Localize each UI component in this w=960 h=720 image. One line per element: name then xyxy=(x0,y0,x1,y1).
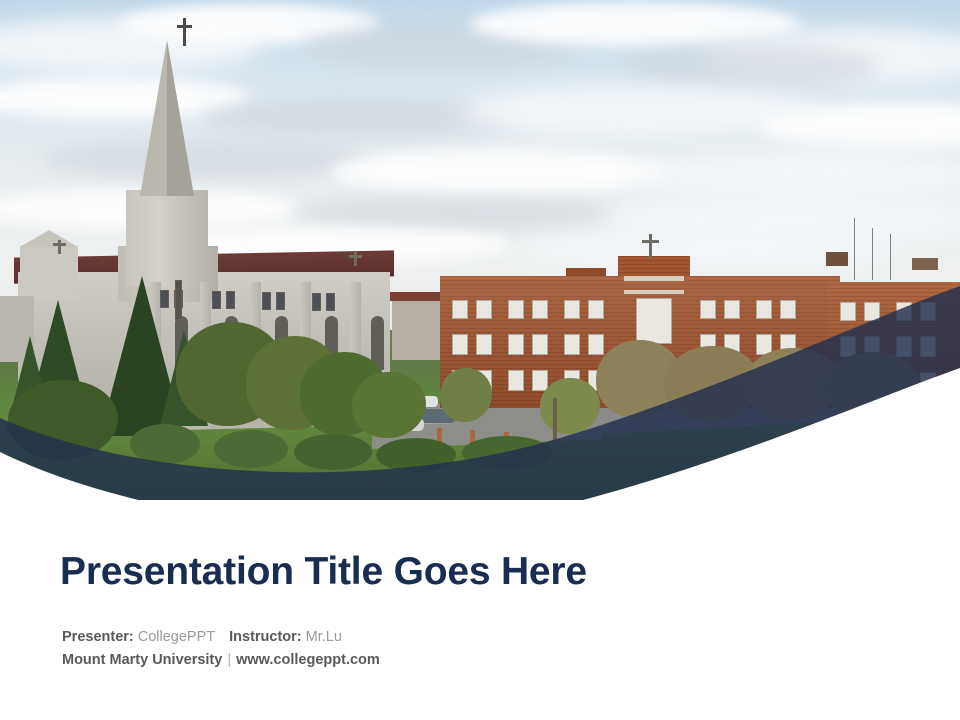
instructor-label: Instructor: xyxy=(229,629,302,645)
shrub xyxy=(214,430,288,468)
page-title: Presentation Title Goes Here xyxy=(60,550,587,594)
presenter-value: CollegePPT xyxy=(138,629,215,645)
church-clerestory-window xyxy=(312,293,321,311)
meta-separator: | xyxy=(222,652,236,668)
church-clerestory-window xyxy=(262,292,271,310)
brick-window xyxy=(564,334,580,355)
church-roof-cross-icon xyxy=(58,240,61,254)
brick-window xyxy=(896,336,912,357)
brick-window xyxy=(564,300,580,319)
brick-window xyxy=(476,334,492,355)
church-clerestory-window xyxy=(326,293,335,311)
campus-photo xyxy=(0,0,960,500)
brick-tower-window xyxy=(636,298,672,344)
rooftop-antenna xyxy=(872,228,873,280)
brick-building-cross-icon xyxy=(649,234,652,258)
brick-window xyxy=(780,300,796,319)
brick-window xyxy=(700,300,716,319)
instructor-value: Mr.Lu xyxy=(306,629,342,645)
brick-window xyxy=(476,300,492,319)
presentation-meta: Presenter: CollegePPTInstructor: Mr.Lu M… xyxy=(62,626,380,672)
rooftop-unit xyxy=(912,258,938,270)
brick-window xyxy=(920,372,936,393)
cloud xyxy=(330,150,670,194)
cloud xyxy=(40,140,370,180)
brick-window xyxy=(588,300,604,319)
shrub xyxy=(376,438,456,472)
website-url[interactable]: www.collegeppt.com xyxy=(236,652,380,668)
rooftop-antenna xyxy=(890,234,891,280)
brick-window xyxy=(724,300,740,319)
rooftop-unit xyxy=(826,252,848,266)
meta-line-people: Presenter: CollegePPTInstructor: Mr.Lu xyxy=(62,626,380,649)
presentation-title-slide: Presentation Title Goes Here Presenter: … xyxy=(0,0,960,720)
brick-window xyxy=(452,300,468,319)
presenter-label: Presenter: xyxy=(62,629,134,645)
brick-window xyxy=(508,334,524,355)
campus-photo-banner xyxy=(0,0,960,500)
brick-window xyxy=(840,302,856,321)
spire-cross-icon xyxy=(183,18,186,46)
shrub xyxy=(130,424,200,464)
brick-window xyxy=(508,370,524,391)
brick-window xyxy=(920,336,936,357)
brick-tower-trim xyxy=(624,276,684,281)
church-gable xyxy=(20,246,78,300)
brick-tower-trim xyxy=(624,290,684,294)
brick-window xyxy=(532,334,548,355)
organization-name: Mount Marty University xyxy=(62,652,222,668)
brick-window xyxy=(896,302,912,321)
church-clerestory-window xyxy=(212,291,221,309)
church-roof-cross-icon xyxy=(354,252,357,266)
cloud xyxy=(640,152,960,198)
brick-window xyxy=(588,334,604,355)
church-clerestory-window xyxy=(276,292,285,310)
cloud xyxy=(290,196,620,232)
shrub xyxy=(294,434,372,470)
brick-window xyxy=(532,300,548,319)
church-spire-shadow xyxy=(167,40,194,196)
brick-window xyxy=(864,302,880,321)
church-clerestory-window xyxy=(226,291,235,309)
tree-trunk xyxy=(553,398,557,442)
brick-window xyxy=(756,300,772,319)
brick-window xyxy=(452,334,468,355)
title-content-area: Presentation Title Goes Here Presenter: … xyxy=(0,500,960,720)
cloud xyxy=(620,44,880,90)
meta-line-organization: Mount Marty University|www.collegeppt.co… xyxy=(62,649,380,672)
brick-window xyxy=(920,302,936,321)
brick-window xyxy=(508,300,524,319)
rooftop-antenna xyxy=(854,218,855,280)
shrub xyxy=(462,436,552,470)
church-tower xyxy=(126,190,208,286)
